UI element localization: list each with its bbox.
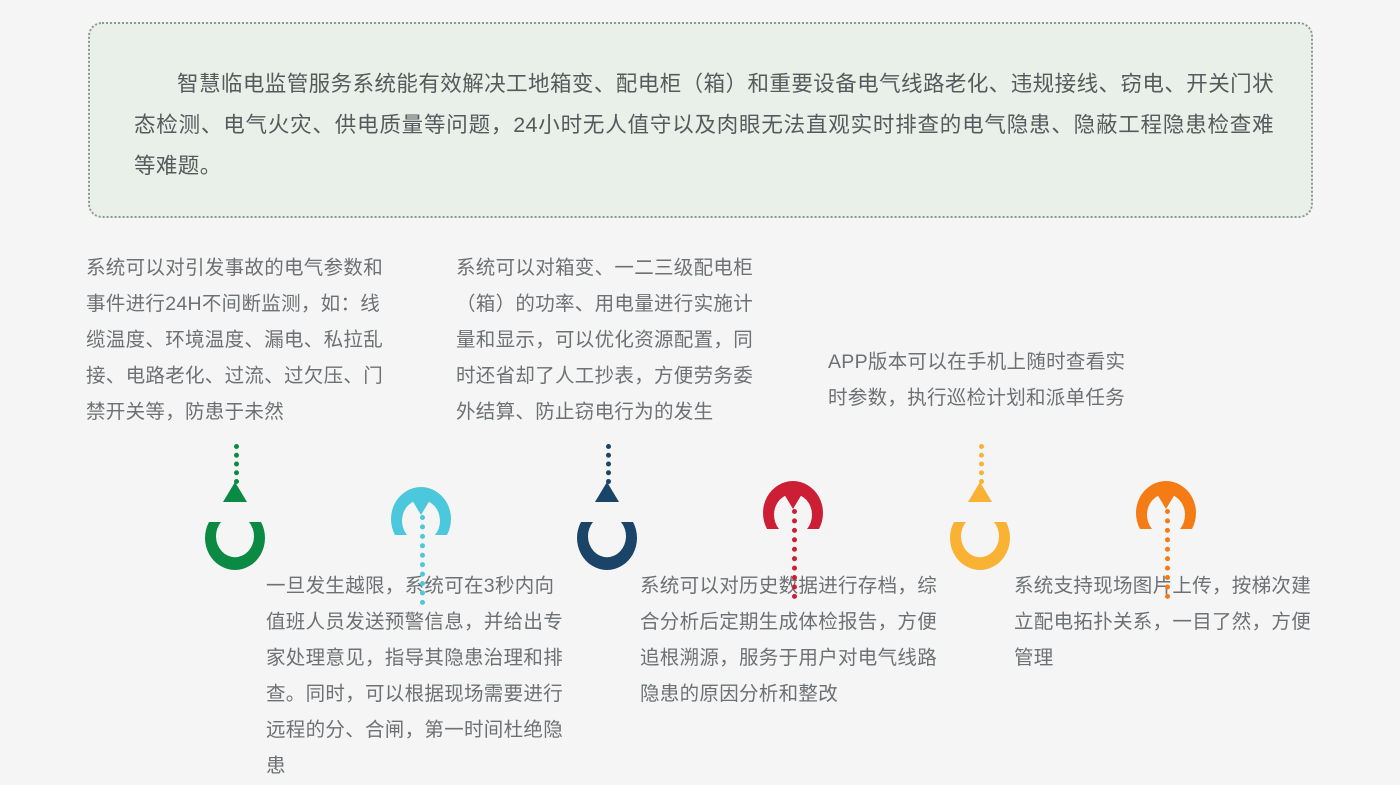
infographic-canvas: 智慧临电监管服务系统能有效解决工地箱变、配电柜（箱）和重要设备电气线路老化、违规… [0, 0, 1400, 785]
arc-up-marker-icon [187, 504, 283, 600]
triangle-up-icon [595, 482, 619, 502]
connector-line-photo-topology [1165, 509, 1170, 599]
triangle-up-icon [968, 482, 992, 502]
triangle-down-icon [781, 489, 805, 509]
triangle-down-icon [409, 495, 433, 515]
feature-icon-metering [373, 457, 469, 757]
connector-line-monitoring [234, 444, 239, 484]
triangle-down-icon [1154, 489, 1178, 509]
arc-up-marker-icon [932, 504, 1028, 600]
feature-icon-monitoring [187, 444, 283, 744]
connector-line-history-archive [979, 444, 984, 484]
triangle-up-icon [223, 482, 247, 502]
arc-up-marker-icon [559, 504, 655, 600]
connector-line-metering [420, 515, 425, 605]
connector-line-app-version [606, 444, 611, 484]
feature-text-app-version: APP版本可以在手机上随时查看实时参数，执行巡检计划和派单任务 [828, 344, 1130, 416]
intro-panel: 智慧临电监管服务系统能有效解决工地箱变、配电柜（箱）和重要设备电气线路老化、违规… [88, 22, 1313, 218]
feature-icon-alarm [745, 451, 841, 751]
feature-icon-app-version [559, 444, 655, 744]
feature-icon-history-archive [932, 444, 1028, 744]
intro-text: 智慧临电监管服务系统能有效解决工地箱变、配电柜（箱）和重要设备电气线路老化、违规… [134, 64, 1274, 187]
feature-text-metering: 系统可以对箱变、一二三级配电柜（箱）的功率、用电量进行实施计量和显示，可以优化资… [456, 250, 756, 430]
feature-icon-photo-topology [1118, 451, 1214, 751]
connector-line-alarm [792, 509, 797, 599]
feature-text-monitoring: 系统可以对引发事故的电气参数和事件进行24H不间断监测，如：线缆温度、环境温度、… [86, 250, 386, 430]
